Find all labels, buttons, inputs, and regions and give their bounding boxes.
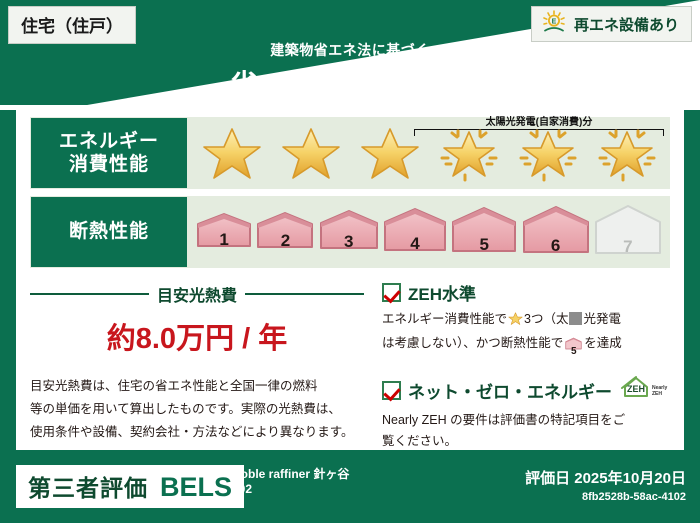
net-zero-title: ネット・ゼロ・エネルギー [408, 378, 612, 403]
energy-performance-row: エネルギー 消費性能 太陽光発電(自家消費)分 [30, 117, 670, 189]
utility-cost-column: 目安光熱費 約8.0万円 / 年 目安光熱費は、住宅の省エネ性能と全国一律の燃料… [30, 280, 374, 440]
utility-cost-note: 目安光熱費は、住宅の省エネ性能と全国一律の燃料 等の単価を用いて算出したものです… [30, 375, 364, 444]
grade-badge-5: 5 [450, 205, 518, 259]
grade-number: 5 [450, 235, 518, 255]
energy-label-root: 住宅（住戸） E 再エネ設備あり 建築物省エネ法に基づく [0, 0, 700, 523]
zeh-text-part: 3つ（太 [524, 312, 568, 326]
evaluation-date: 評価日 2025年10月20日 [525, 467, 686, 488]
svg-text:E: E [552, 18, 557, 25]
bels-certification-badge: 第三者評価 BELS [16, 465, 244, 508]
grade-number: 4 [382, 234, 448, 254]
net-zero-text: Nearly ZEH の要件は評価書の特記項目をご 覧ください。 [382, 410, 671, 451]
grade-number: 6 [521, 236, 591, 256]
zeh-column: ZEH水準 エネルギー消費性能で3つ（太光発電は考慮しない）、かつ断熱性能で5を… [374, 280, 671, 440]
utility-cost-note-line: 目安光熱費は、住宅の省エネ性能と全国一律の燃料 [30, 375, 364, 398]
title-block: 建築物省エネ法に基づく 省エネ性能ラベル [0, 40, 700, 104]
sun-icon: E [541, 10, 567, 39]
star-rating [192, 124, 666, 187]
grade-number: 5 [565, 347, 582, 357]
energy-performance-label: エネルギー 消費性能 [30, 117, 188, 189]
grade-badge-3: 3 [318, 208, 380, 256]
grade-badge-7: 7 [593, 203, 663, 261]
svg-text:ZEH: ZEH [652, 391, 662, 397]
house-type-tag: 住宅（住戸） [8, 6, 136, 44]
insulation-grades-area: 1 2 [188, 196, 670, 268]
grade-badge-inline: 5 [565, 336, 582, 358]
grade-badge-2: 2 [255, 210, 315, 255]
utility-cost-heading: 目安光熱費 [30, 282, 364, 306]
grade-badge-1: 1 [195, 211, 253, 254]
zeh-text-part: エネルギー消費性能で [382, 312, 507, 326]
star-icon [201, 124, 263, 187]
zeh-text-part: 光発電 [583, 312, 621, 326]
star-icon [280, 124, 342, 187]
evaluation-info: 評価日 2025年10月20日 8fb2528b-58ac-4102 [525, 467, 686, 503]
footer: 第三者評価 BELS Noble raffiner 針ヶ谷 302 評価日 20… [0, 453, 700, 523]
rule-left [30, 293, 149, 295]
svg-text:ZEH: ZEH [627, 384, 645, 394]
solar-star-icon [438, 124, 500, 187]
evaluation-id: 8fb2528b-58ac-4102 [525, 491, 686, 503]
net-zero-text-line: Nearly ZEH の要件は評価書の特記項目をご [382, 410, 671, 431]
building-unit-text: 302 [232, 482, 442, 497]
energy-stars-area: 太陽光発電(自家消費)分 [188, 117, 670, 189]
solar-star-icon [596, 124, 658, 187]
zeh-text-part: を達成 [584, 336, 622, 350]
label-card: エネルギー 消費性能 太陽光発電(自家消費)分 [16, 105, 684, 450]
net-zero-text-line: 覧ください。 [382, 431, 671, 452]
zeh-standard-block: ZEH水準 エネルギー消費性能で3つ（太光発電は考慮しない）、かつ断熱性能で5を… [382, 280, 671, 357]
zeh-house-logo: ZEH Nearly ZEH [619, 375, 671, 406]
zeh-text-part: は考慮しない）、かつ断熱性能で [382, 336, 563, 350]
page-title: 省エネ性能ラベル [0, 62, 700, 104]
grade-number: 2 [255, 231, 315, 251]
net-zero-header: ネット・ゼロ・エネルギー ZEH Nearly ZEH [382, 375, 671, 406]
detail-columns: 目安光熱費 約8.0万円 / 年 目安光熱費は、住宅の省エネ性能と全国一律の燃料… [30, 280, 670, 440]
utility-cost-title: 目安光熱費 [157, 282, 237, 306]
insulation-performance-label: 断熱性能 [30, 196, 188, 268]
bels-logo-text: BELS [160, 472, 232, 503]
solar-star-icon [517, 124, 579, 187]
grade-number: 3 [318, 232, 380, 252]
building-name: Noble raffiner 針ヶ谷 302 [232, 467, 442, 497]
utility-cost-note-line: 使用条件や設備、契約会社・方法などにより異なります。 [30, 421, 364, 444]
zeh-standard-text: エネルギー消費性能で3つ（太光発電は考慮しない）、かつ断熱性能で5を達成 [382, 309, 671, 357]
check-icon [382, 283, 401, 302]
insulation-performance-row: 断熱性能 1 [30, 196, 670, 268]
zeh-standard-title: ZEH水準 [408, 280, 476, 305]
zeh-standard-header: ZEH水準 [382, 280, 671, 305]
net-zero-energy-block: ネット・ゼロ・エネルギー ZEH Nearly ZEH [382, 375, 671, 451]
rule-right [245, 293, 364, 295]
grade-badge-4: 4 [382, 206, 448, 258]
check-icon [382, 381, 401, 400]
building-name-text: Noble raffiner 針ヶ谷 [232, 467, 442, 482]
grade-number: 1 [195, 230, 253, 250]
renewable-badge-label: 再エネ設備あり [574, 14, 679, 35]
grade-scale: 1 2 [188, 196, 670, 268]
star-icon-inline [508, 315, 523, 329]
bels-jp-label: 第三者評価 [28, 469, 148, 503]
grade-number: 7 [593, 237, 663, 257]
star-icon [359, 124, 421, 187]
utility-cost-value: 約8.0万円 / 年 [30, 315, 364, 357]
grade-badge-6: 6 [521, 204, 591, 260]
redaction-block [569, 312, 582, 325]
renewable-equipment-badge: E 再エネ設備あり [531, 6, 692, 42]
performance-rows: エネルギー 消費性能 太陽光発電(自家消費)分 [30, 117, 670, 268]
utility-cost-note-line: 等の単価を用いて算出したものです。実際の光熱費は、 [30, 398, 364, 421]
